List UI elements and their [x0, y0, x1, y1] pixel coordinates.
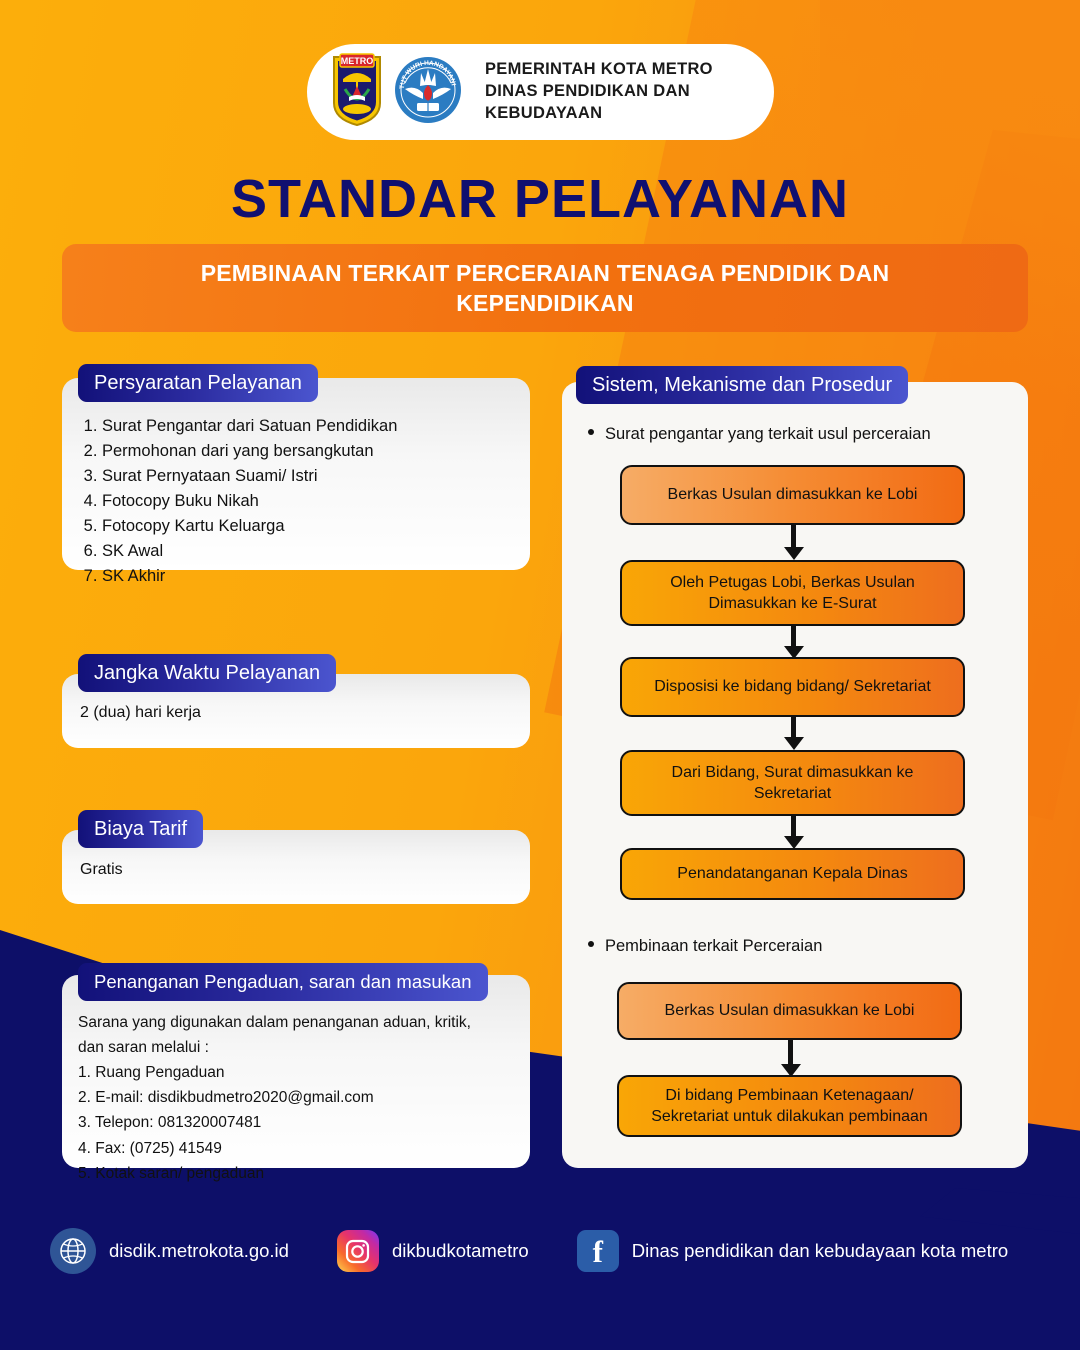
subtitle-banner: PEMBINAAN TERKAIT PERCERAIAN TENAGA PEND…: [62, 244, 1028, 332]
list-item: 2. E-mail: disdikbudmetro2020@gmail.com: [78, 1085, 508, 1110]
flow-group-1-bullet: Surat pengantar yang terkait usul percer…: [588, 425, 931, 444]
footer-website[interactable]: disdik.metrokota.go.id: [50, 1228, 289, 1274]
bullet-dot-icon: [588, 429, 594, 435]
list-item: Surat Pernyataan Suami/ Istri: [102, 464, 508, 489]
heading-persyaratan: Persyaratan Pelayanan: [78, 364, 318, 402]
metro-city-logo-icon: METRO: [331, 53, 383, 132]
tut-wuri-handayani-logo-icon: TUT WURI HANDAYANI: [393, 55, 463, 130]
org-line-2: DINAS PENDIDIKAN DAN: [485, 81, 713, 103]
flow-step-g1-4: Dari Bidang, Surat dimasukkan ke Sekreta…: [620, 750, 965, 816]
list-item: 3. Telepon: 081320007481: [78, 1110, 508, 1135]
header-org-name: PEMERINTAH KOTA METRO DINAS PENDIDIKAN D…: [485, 59, 713, 124]
biaya-tarif-value: Gratis: [80, 861, 123, 879]
list-item: Fotocopy Kartu Keluarga: [102, 514, 508, 539]
flow-arrow-g1-4: [791, 816, 796, 838]
heading-sistem-mekanisme: Sistem, Mekanisme dan Prosedur: [576, 366, 908, 404]
heading-biaya-tarif: Biaya Tarif: [78, 810, 203, 848]
org-line-3: KEBUDAYAAN: [485, 103, 713, 125]
globe-icon: [50, 1228, 96, 1274]
flow-arrow-g1-3: [791, 717, 796, 739]
list-item: Permohonan dari yang bersangkutan: [102, 439, 508, 464]
footer-social-bar: disdik.metrokota.go.id dikbudkotametro f…: [50, 1228, 1008, 1274]
page-title: STANDAR PELAYANAN: [0, 168, 1080, 230]
list-item: 1. Ruang Pengaduan: [78, 1060, 508, 1085]
pengaduan-intro-1: Sarana yang digunakan dalam penanganan a…: [78, 1010, 508, 1035]
list-item: Surat Pengantar dari Satuan Pendidikan: [102, 414, 508, 439]
footer-instagram[interactable]: dikbudkotametro: [337, 1230, 529, 1272]
list-item: Fotocopy Buku Nikah: [102, 489, 508, 514]
instagram-icon: [337, 1230, 379, 1272]
flow-step-g1-1: Berkas Usulan dimasukkan ke Lobi: [620, 465, 965, 525]
flow-step-g1-5: Penandatanganan Kepala Dinas: [620, 848, 965, 900]
website-label: disdik.metrokota.go.id: [109, 1240, 289, 1262]
persyaratan-list: Surat Pengantar dari Satuan Pendidikan P…: [78, 414, 508, 590]
flow-arrow-g2-1: [788, 1040, 793, 1066]
flow-arrow-g1-2: [791, 626, 796, 648]
flow-group-2-bullet: Pembinaan terkait Perceraian: [588, 937, 822, 956]
list-item: 5. Kotak saran/ pengaduan: [78, 1161, 508, 1186]
flow-group-1-label: Surat pengantar yang terkait usul percer…: [605, 425, 931, 444]
facebook-icon: f: [577, 1230, 619, 1272]
flow-arrow-g1-1: [791, 525, 796, 549]
footer-facebook[interactable]: f Dinas pendidikan dan kebudayaan kota m…: [577, 1230, 1008, 1272]
bullet-dot-icon: [588, 941, 594, 947]
org-line-1: PEMERINTAH KOTA METRO: [485, 59, 713, 81]
list-item: 4. Fax: (0725) 41549: [78, 1136, 508, 1161]
heading-penanganan-pengaduan: Penanganan Pengaduan, saran dan masukan: [78, 963, 488, 1001]
list-item: SK Awal: [102, 539, 508, 564]
pengaduan-intro-2: dan saran melalui :: [78, 1035, 508, 1060]
instagram-label: dikbudkotametro: [392, 1240, 529, 1262]
flow-step-g1-3: Disposisi ke bidang bidang/ Sekretariat: [620, 657, 965, 717]
header-badge: METRO TUT WURI HANDAYANI: [307, 44, 774, 140]
svg-text:METRO: METRO: [341, 56, 374, 66]
subtitle-text: PEMBINAAN TERKAIT PERCERAIAN TENAGA PEND…: [122, 258, 968, 319]
list-item: SK Akhir: [102, 564, 508, 589]
flow-step-g1-2: Oleh Petugas Lobi, Berkas Usulan Dimasuk…: [620, 560, 965, 626]
flow-step-g2-1: Berkas Usulan dimasukkan ke Lobi: [617, 982, 962, 1040]
pengaduan-body: Sarana yang digunakan dalam penanganan a…: [78, 1010, 508, 1186]
heading-jangka-waktu: Jangka Waktu Pelayanan: [78, 654, 336, 692]
jangka-waktu-value: 2 (dua) hari kerja: [80, 704, 201, 722]
flow-step-g2-2: Di bidang Pembinaan Ketenagaan/ Sekretar…: [617, 1075, 962, 1137]
facebook-label: Dinas pendidikan dan kebudayaan kota met…: [632, 1240, 1008, 1262]
poster-root: METRO TUT WURI HANDAYANI: [0, 0, 1080, 1350]
flow-group-2-label: Pembinaan terkait Perceraian: [605, 937, 822, 956]
